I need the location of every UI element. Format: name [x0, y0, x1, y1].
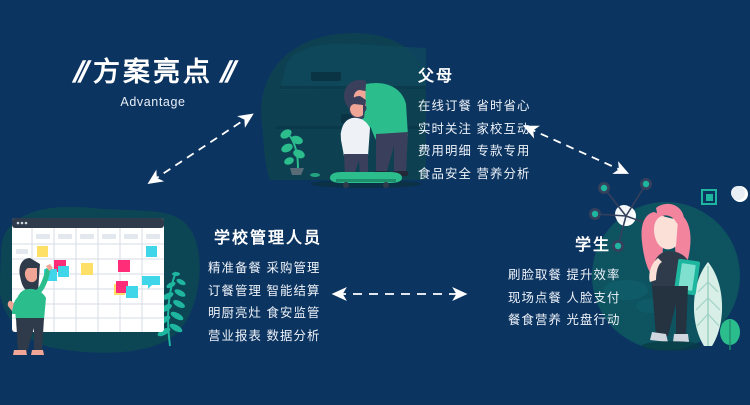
sticky-cyan-3 [126, 286, 138, 298]
woman-shoe-1 [13, 350, 27, 355]
child-shirt [341, 118, 370, 156]
sticky-cyan-2 [58, 266, 69, 277]
arrow-title-to-parent [152, 116, 250, 181]
group-parent: 父母 在线订餐 省时省心 实时关注 家校互动 费用明细 专款专用 食品安全 营养… [418, 62, 530, 185]
sticky-pink-2 [118, 260, 130, 272]
slash-left-decoration: // [73, 58, 87, 88]
board-titlebar [12, 218, 164, 228]
group-school-list: 精准备餐 采购管理 订餐管理 智能结算 明厨亮灶 食安监管 营业报表 数据分析 [208, 257, 322, 347]
group-parent-heading: 父母 [418, 62, 530, 86]
shelf-box-1 [311, 72, 341, 81]
woman-top [15, 289, 46, 320]
student-shoe-2 [673, 334, 689, 342]
list-item: 刷脸取餐 提升效率 [508, 264, 650, 287]
list-item: 餐食营养 光盘行动 [508, 309, 650, 332]
floating-circle-inner [731, 186, 745, 200]
list-item: 订餐管理 智能结算 [208, 280, 322, 303]
page-title-row: // 方案亮点 // [38, 58, 268, 88]
group-student-heading: 学生 [536, 231, 650, 255]
sticky-yellow-2 [81, 263, 93, 275]
group-student: 学生 刷脸取餐 提升效率 现场点餐 人脸支付 餐食营养 光盘行动 [508, 231, 650, 332]
illustration-parent-and-child [256, 28, 426, 208]
list-item: 在线订餐 省时省心 [418, 95, 530, 118]
board-dot-2 [21, 222, 24, 225]
sticky-cyan-1 [146, 246, 157, 257]
woman-legs [16, 318, 44, 352]
square-fill-icon [706, 194, 713, 201]
list-item: 食品安全 营养分析 [418, 163, 530, 186]
list-item: 营业报表 数据分析 [208, 325, 322, 348]
list-item: 实时关注 家校互动 [418, 118, 530, 141]
list-item: 现场点餐 人脸支付 [508, 287, 650, 310]
student-shadow [642, 341, 702, 351]
list-item: 明厨亮灶 食安监管 [208, 302, 322, 325]
woman-shoe-2 [31, 350, 44, 355]
board-dot-1 [17, 222, 20, 225]
poster-canvas: // 方案亮点 // Advantage 父母 在线订餐 省时省心 实时关注 家… [0, 0, 750, 405]
page-title-block: // 方案亮点 // Advantage [38, 58, 268, 109]
group-school: 学校管理人员 精准备餐 采购管理 订餐管理 智能结算 明厨亮灶 食安监管 营业报… [208, 224, 322, 347]
page-title: 方案亮点 [93, 58, 213, 88]
sticky-yellow-1 [37, 246, 48, 257]
school-illustration-svg [0, 196, 208, 366]
parent-illustration-svg [256, 28, 426, 208]
group-school-heading: 学校管理人员 [214, 224, 322, 248]
board-dot-3 [25, 222, 28, 225]
group-student-list: 刷脸取餐 提升效率 现场点餐 人脸支付 餐食营养 光盘行动 [508, 264, 650, 332]
group-parent-list: 在线订餐 省时省心 实时关注 家校互动 费用明细 专款专用 食品安全 营养分析 [418, 95, 530, 185]
list-item: 精准备餐 采购管理 [208, 257, 322, 280]
list-item: 费用明细 专款专用 [418, 140, 530, 163]
page-subtitle: Advantage [38, 95, 268, 109]
slash-right-decoration: // [219, 58, 233, 88]
illustration-school-board [0, 196, 208, 366]
